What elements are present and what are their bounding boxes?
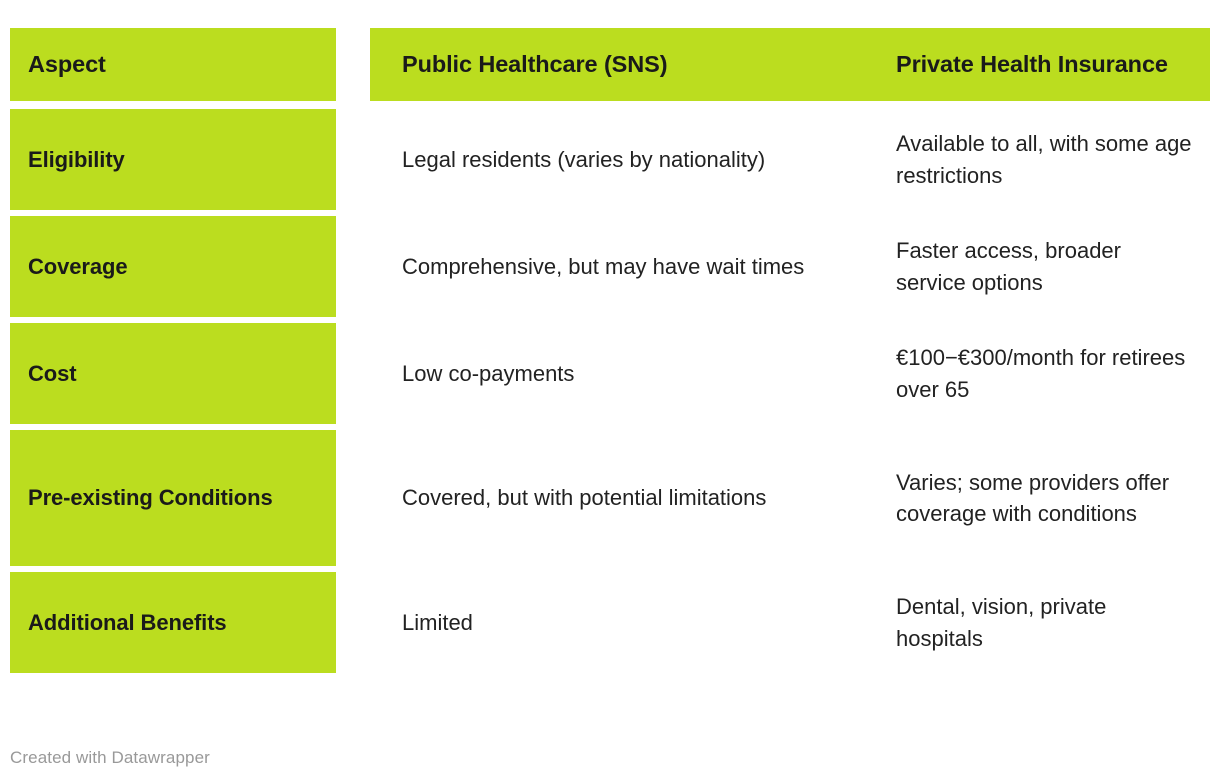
chart-container: Aspect Public Healthcare (SNS) Private H… (0, 28, 1220, 782)
column-header-aspect: Aspect (10, 28, 336, 101)
cell-aspect: Cost (10, 323, 336, 424)
cell-spacer (336, 216, 370, 317)
cell-public-healthcare: Limited (370, 572, 882, 673)
cell-private-health-insurance: Varies; some providers offer coverage wi… (882, 430, 1210, 566)
cell-spacer (336, 109, 370, 210)
table-header: Aspect Public Healthcare (SNS) Private H… (10, 28, 1210, 101)
table-header-row: Aspect Public Healthcare (SNS) Private H… (10, 28, 1210, 101)
cell-aspect: Coverage (10, 216, 336, 317)
table-row: Eligibility Legal residents (varies by n… (10, 109, 1210, 210)
cell-private-health-insurance: Dental, vision, private hospitals (882, 572, 1210, 673)
row-spacer (10, 101, 1210, 109)
row-spacer-cell (10, 101, 336, 109)
cell-public-healthcare: Comprehensive, but may have wait times (370, 216, 882, 317)
cell-public-healthcare: Low co-payments (370, 323, 882, 424)
table-row: Additional Benefits Limited Dental, visi… (10, 572, 1210, 673)
cell-private-health-insurance: Faster access, broader service options (882, 216, 1210, 317)
cell-aspect: Additional Benefits (10, 572, 336, 673)
cell-spacer (336, 572, 370, 673)
cell-public-healthcare: Legal residents (varies by nationality) (370, 109, 882, 210)
cell-spacer (336, 323, 370, 424)
table-row: Coverage Comprehensive, but may have wai… (10, 216, 1210, 317)
column-header-spacer (336, 28, 370, 101)
comparison-table: Aspect Public Healthcare (SNS) Private H… (10, 28, 1210, 673)
table-row: Pre-existing Conditions Covered, but wit… (10, 430, 1210, 566)
column-header-private-health-insurance: Private Health Insurance (882, 28, 1210, 101)
row-spacer-cell (882, 101, 1210, 109)
row-spacer-cell (370, 101, 882, 109)
cell-aspect: Pre-existing Conditions (10, 430, 336, 566)
row-spacer-cell (336, 101, 370, 109)
cell-private-health-insurance: Available to all, with some age restrict… (882, 109, 1210, 210)
column-header-public-healthcare: Public Healthcare (SNS) (370, 28, 882, 101)
table-body: Eligibility Legal residents (varies by n… (10, 101, 1210, 673)
datawrapper-attribution[interactable]: Created with Datawrapper (10, 748, 210, 768)
cell-private-health-insurance: €100−€300/month for retirees over 65 (882, 323, 1210, 424)
cell-spacer (336, 430, 370, 566)
cell-aspect: Eligibility (10, 109, 336, 210)
cell-public-healthcare: Covered, but with potential limitations (370, 430, 882, 566)
table-row: Cost Low co-payments €100−€300/month for… (10, 323, 1210, 424)
